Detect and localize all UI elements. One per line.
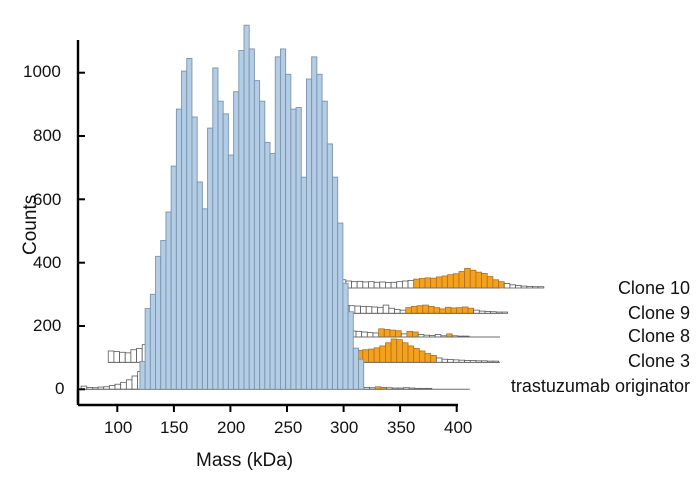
x-tick-label-150: 150: [160, 418, 188, 438]
y-tick-label-600: 600: [33, 190, 61, 210]
mass-photometry-chart: [0, 0, 700, 481]
y-tick-label-0: 0: [55, 379, 64, 399]
x-tick-label-300: 300: [330, 418, 358, 438]
trace-label-clone-9: Clone 9: [628, 303, 690, 324]
x-tick-label-350: 350: [387, 418, 415, 438]
x-tick-label-200: 200: [217, 418, 245, 438]
trace-label-trastuzumab-originator: trastuzumab originator: [511, 376, 690, 397]
y-tick-label-1000: 1000: [23, 62, 61, 82]
main-blue-histogram: [140, 25, 364, 389]
x-tick-label-100: 100: [104, 418, 132, 438]
x-tick-label-400: 400: [444, 418, 472, 438]
x-axis-title: Mass (kDa): [196, 450, 293, 472]
y-tick-label-400: 400: [33, 253, 61, 273]
plot-layer: [81, 25, 544, 389]
y-tick-label-200: 200: [33, 316, 61, 336]
x-tick-label-250: 250: [274, 418, 302, 438]
trace-label-clone-10: Clone 10: [618, 278, 690, 299]
y-tick-label-800: 800: [33, 126, 61, 146]
trace-label-clone-3: Clone 3: [628, 351, 690, 372]
trace-label-clone-8: Clone 8: [628, 326, 690, 347]
